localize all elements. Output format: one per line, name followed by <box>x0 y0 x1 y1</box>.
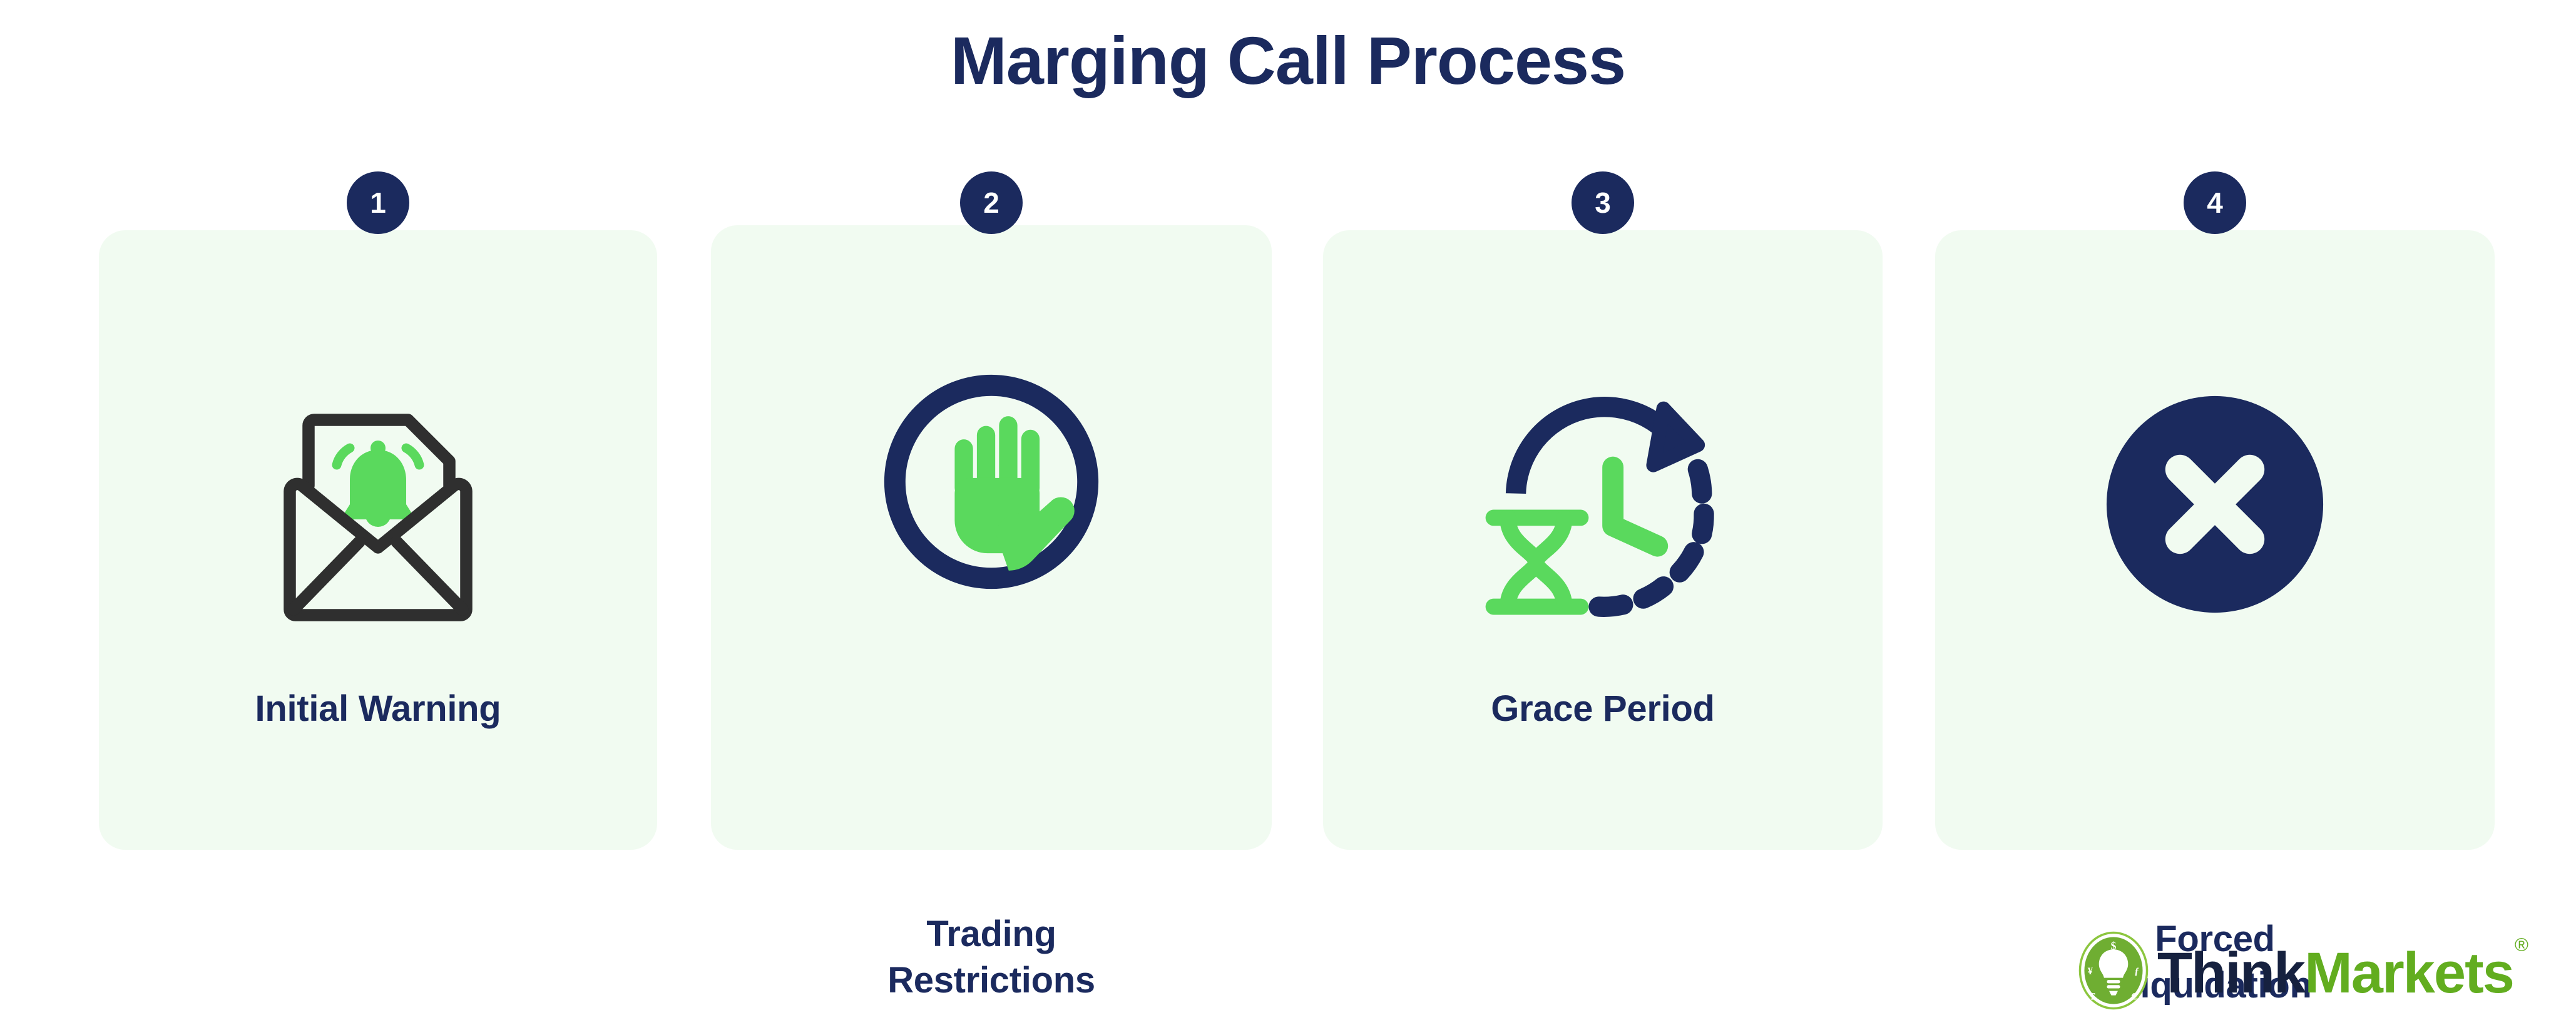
circle-x-icon-wrap <box>1935 373 2495 636</box>
thinkmarkets-logo[interactable]: $ ¥ ƒ £ € ThinkMarkets® <box>2073 930 2527 1011</box>
svg-text:£: £ <box>2090 991 2095 1002</box>
stop-hand-circle-icon-wrap <box>711 350 1272 613</box>
svg-text:€: € <box>2131 991 2136 1002</box>
svg-text:ƒ: ƒ <box>2134 965 2139 977</box>
step-badge-1: 1 <box>347 171 409 234</box>
step-card-4[interactable]: 4 Forced Liquidation <box>1935 230 2495 850</box>
step-card-1[interactable]: 1 Initial Warning <box>99 230 657 850</box>
logo-markets-text: Markets <box>2304 941 2513 1005</box>
logo-think-text: Think <box>2157 941 2304 1005</box>
thinkmarkets-wordmark: ThinkMarkets® <box>2157 944 2527 1002</box>
step-label-1: Initial Warning <box>99 686 657 732</box>
circle-x-icon <box>2105 394 2325 614</box>
step-badge-3: 3 <box>1572 171 1634 234</box>
step-card-3[interactable]: 3 <box>1323 230 1883 850</box>
thinkmarkets-lightbulb-icon: $ ¥ ƒ £ € <box>2073 930 2154 1011</box>
step-badge-label-2: 2 <box>983 188 999 217</box>
hourglass-clock-icon <box>1471 384 1734 628</box>
svg-text:¥: ¥ <box>2088 965 2093 977</box>
step-badge-label-3: 3 <box>1595 188 1611 217</box>
step-badge-4: 4 <box>2184 171 2246 234</box>
open-envelope-bell-icon-wrap <box>99 380 657 643</box>
step-label-2: Trading Restrictions <box>711 911 1272 1004</box>
registered-trademark-icon: ® <box>2515 935 2528 956</box>
stop-hand-circle-icon <box>876 366 1107 598</box>
step-card-2[interactable]: 2 Trading Restrictions <box>711 225 1272 850</box>
hourglass-clock-icon-wrap <box>1323 374 1883 637</box>
step-badge-2: 2 <box>960 171 1023 234</box>
svg-text:$: $ <box>2110 939 2116 952</box>
step-label-3: Grace Period <box>1323 686 1883 732</box>
open-envelope-bell-icon <box>275 399 481 625</box>
step-badge-label-4: 4 <box>2207 188 2223 217</box>
step-badge-label-1: 1 <box>370 188 386 217</box>
process-steps-row: 1 Initial Warning <box>0 0 2576 876</box>
